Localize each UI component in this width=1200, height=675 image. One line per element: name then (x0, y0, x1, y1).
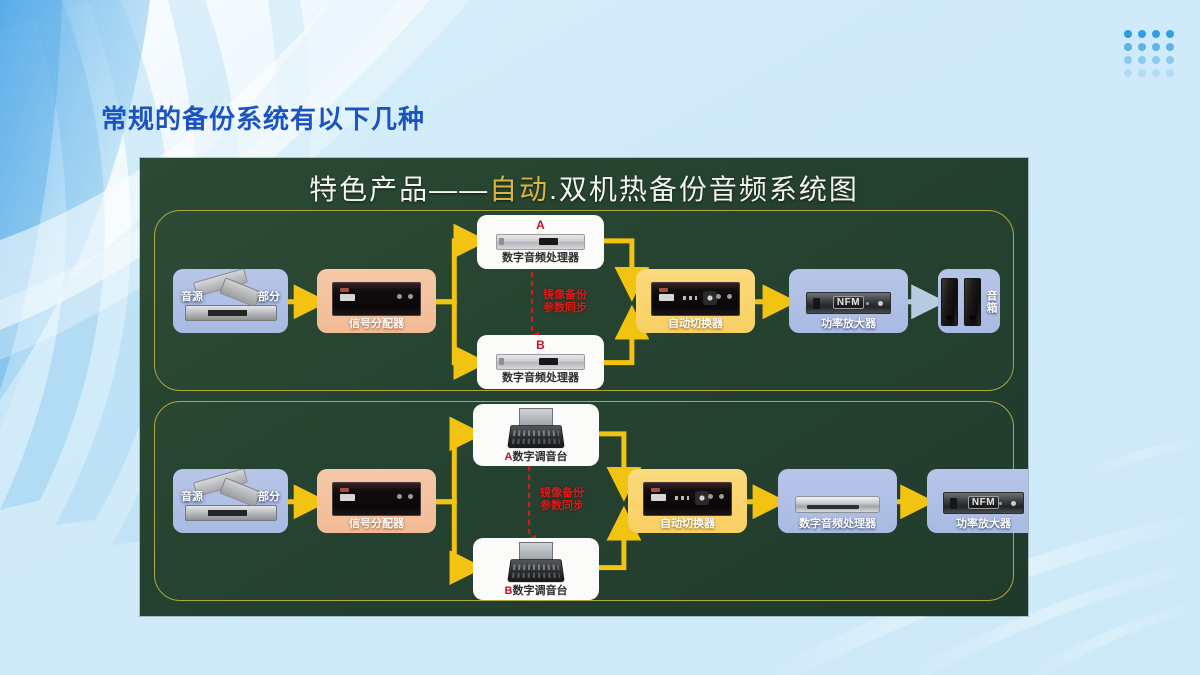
system-diagram-board: 特色产品——自动.双机热备份音频系统图 (140, 158, 1028, 616)
rack-switcher-icon (651, 282, 741, 316)
amplifier-nfm-icon: NFM (806, 292, 892, 314)
node-source-bottom-label: 音源 (181, 491, 203, 503)
node-dsp-bottom-label: 数字音频处理器 (799, 518, 876, 530)
node-distributor-bottom[interactable]: 信号分配器 (317, 469, 436, 533)
node-source-bottom-label2: 部分 (258, 491, 280, 503)
node-mixer-b-bottom-label: B数字调音台 (505, 585, 568, 597)
dot (1152, 56, 1160, 64)
node-dsp-a-top-letter: A (536, 219, 545, 232)
node-amp-bottom[interactable]: NFM 功率放大器 (927, 469, 1028, 533)
diagram-title-suffix: .双机热备份音频系统图 (549, 174, 859, 205)
node-switcher-top-label: 自动切换器 (668, 318, 723, 330)
dot (1152, 43, 1160, 51)
node-speaker-top-label: 音箱 (985, 290, 997, 314)
node-distributor-top-label: 信号分配器 (349, 318, 404, 330)
diagram-title-highlight: 自动 (489, 174, 549, 205)
dot (1138, 69, 1146, 77)
node-mixer-a-bottom[interactable]: A数字调音台 (473, 404, 599, 466)
dot (1124, 56, 1132, 64)
node-speaker-top[interactable]: 音箱 (938, 269, 1000, 333)
node-amp-top[interactable]: NFM 功率放大器 (789, 269, 908, 333)
sync-label-top: 镜像备份 参数同步 (543, 289, 587, 314)
slim-player-icon (795, 496, 881, 513)
rack-silver-icon (496, 234, 586, 250)
rack-device-icon (332, 482, 422, 516)
dot (1138, 56, 1146, 64)
sync-label-top-line2: 参数同步 (543, 302, 587, 315)
node-distributor-top[interactable]: 信号分配器 (317, 269, 436, 333)
amplifier-nfm-icon: NFM (943, 492, 1024, 514)
dot (1138, 43, 1146, 51)
rack-device-icon (332, 282, 422, 316)
node-mixer-a-bottom-label: A数字调音台 (505, 451, 568, 463)
dot (1124, 69, 1132, 77)
node-switcher-top[interactable]: 自动切换器 (636, 269, 755, 333)
node-dsp-b-top-label: 数字音频处理器 (502, 372, 579, 384)
dot (1166, 69, 1174, 77)
node-dsp-a-top[interactable]: A 数字音频处理器 (477, 215, 604, 269)
node-switcher-bottom[interactable]: 自动切换器 (628, 469, 747, 533)
node-dsp-a-top-label: 数字音频处理器 (502, 252, 579, 264)
node-mixer-b-bottom[interactable]: B数字调音台 (473, 538, 599, 600)
sync-label-top-line1: 镜像备份 (543, 289, 587, 302)
panel-bottom: 音源 部分 信号分配器 A数字调音台 B数字调音台 (154, 401, 1014, 601)
node-source-top-label: 音源 (181, 291, 203, 303)
node-source-top-label2: 部分 (258, 291, 280, 303)
speakers-icon (941, 278, 981, 326)
node-dsp-bottom[interactable]: 数字音频处理器 (778, 469, 897, 533)
mixing-console-icon (507, 542, 565, 582)
node-mixer-b-text: 数字调音台 (512, 585, 567, 597)
sync-label-bottom-line2: 参数同步 (540, 500, 584, 513)
dot (1138, 30, 1146, 38)
dot (1166, 30, 1174, 38)
diagram-title: 特色产品——自动.双机热备份音频系统图 (140, 168, 1028, 208)
sync-label-bottom: 镜像备份 参数同步 (540, 487, 584, 512)
dot (1152, 30, 1160, 38)
node-dsp-b-top-letter: B (536, 339, 545, 352)
dot (1124, 43, 1132, 51)
dot (1124, 30, 1132, 38)
sync-label-bottom-line1: 镜像备份 (540, 487, 584, 500)
panel-top: 音源 部分 信号分配器 A 数字音频处理器 B 数字音频处理器 自动切换器 (154, 210, 1014, 391)
diagram-title-prefix: 特色产品—— (309, 174, 489, 205)
node-mixer-a-text: 数字调音台 (512, 451, 567, 463)
dot (1152, 69, 1160, 77)
node-source-bottom[interactable]: 音源 部分 (173, 469, 288, 533)
node-amp-top-label: 功率放大器 (821, 318, 876, 330)
mixing-console-icon (507, 408, 565, 448)
rack-silver-icon (496, 354, 586, 370)
slide-heading: 常规的备份系统有以下几种 (101, 99, 425, 136)
rack-switcher-icon (643, 482, 733, 516)
amp-brand-label: NFM (833, 296, 864, 309)
node-distributor-bottom-label: 信号分配器 (349, 518, 404, 530)
dot (1166, 56, 1174, 64)
node-dsp-b-top[interactable]: B 数字音频处理器 (477, 335, 604, 389)
dot (1166, 43, 1174, 51)
node-amp-bottom-label: 功率放大器 (956, 518, 1011, 530)
amp-brand-label: NFM (968, 496, 999, 509)
node-switcher-bottom-label: 自动切换器 (660, 518, 715, 530)
node-source-top[interactable]: 音源 部分 (173, 269, 288, 333)
dot-grid-decoration (1124, 30, 1176, 78)
